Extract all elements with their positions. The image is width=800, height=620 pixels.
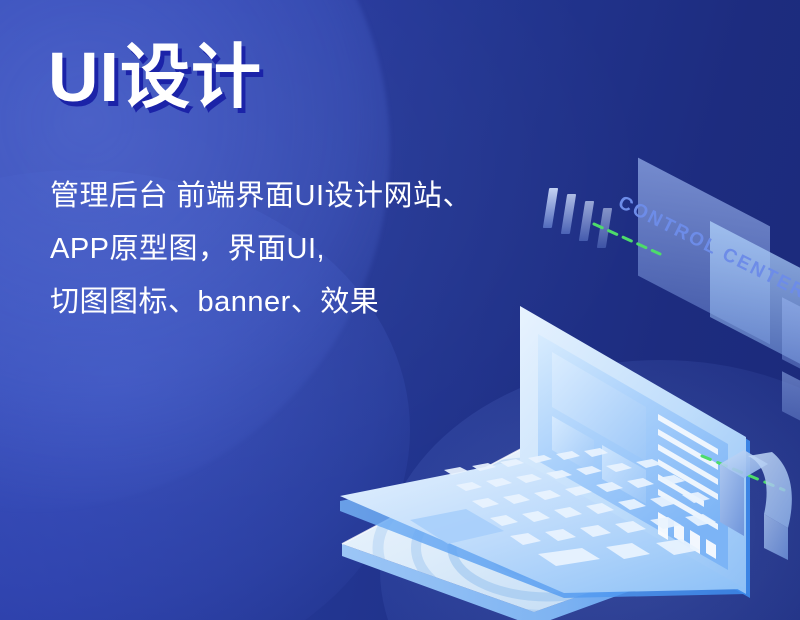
decor-bar — [597, 208, 612, 248]
decor-bar — [561, 194, 576, 234]
decor-bar — [543, 188, 558, 228]
edge-iso-object — [714, 448, 800, 560]
page-title: UI设计 — [48, 42, 262, 112]
subtitle-line-1: 管理后台 前端界面UI设计网站、 — [50, 170, 750, 223]
decor-bar — [579, 201, 594, 241]
subtitle-line-2: APP原型图，界面UI, — [50, 223, 750, 276]
laptop-svg — [332, 298, 752, 598]
edge-iso-object-svg — [714, 448, 800, 560]
ui-design-banner: CONTROL CENTER UI设计 管理后台 前端界面UI设计网站、 APP… — [0, 0, 800, 620]
decor-bars — [546, 186, 636, 246]
laptop-illustration — [332, 298, 752, 598]
